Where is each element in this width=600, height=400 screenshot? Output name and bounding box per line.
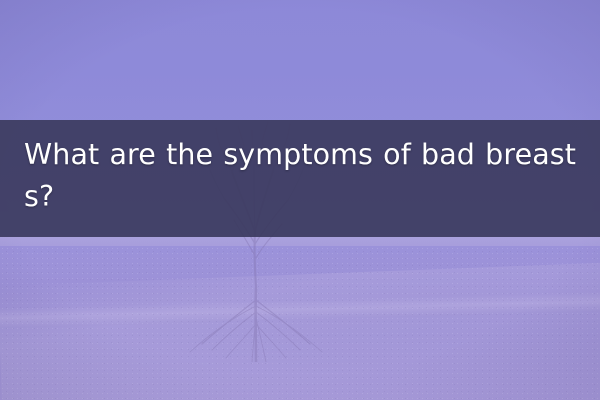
- caption-image: What are the symptoms of bad breasts?: [0, 0, 600, 400]
- caption-banner: What are the symptoms of bad breasts?: [0, 120, 600, 237]
- caption-text: What are the symptoms of bad breasts?: [24, 134, 576, 218]
